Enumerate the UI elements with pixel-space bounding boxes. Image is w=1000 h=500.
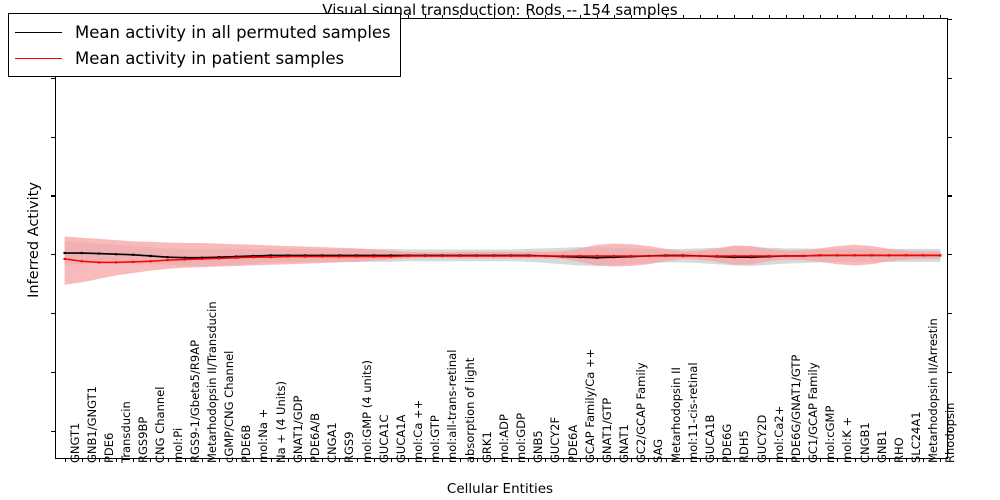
x-tick [271,458,272,462]
x-tick [889,458,890,462]
data-point-marker [167,259,169,261]
data-point-marker [201,258,203,260]
x-tick-label: PDE6B [241,425,253,463]
x-tick [185,458,186,462]
legend-line-patient [15,58,62,59]
x-tick-label: GUCA1B [705,415,717,463]
x-tick-label: GNGT1 [69,423,81,463]
x-tick [940,15,941,19]
x-tick [923,458,924,462]
x-tick [906,458,907,462]
data-point-marker [149,260,151,262]
legend-label-permuted: Mean activity in all permuted samples [75,23,391,42]
x-tick-label: mol:11-cis-retinal [688,362,700,463]
x-tick-label: RGS9 [344,431,356,463]
y-tick [51,78,56,79]
x-tick [631,458,632,462]
data-point-marker [407,255,409,257]
x-tick-label: GNB1 [876,430,888,463]
x-tick-label: GRK1 [481,431,493,463]
x-tick [597,15,598,19]
data-point-marker [716,255,718,257]
x-tick [734,15,735,19]
data-point-marker [682,255,684,257]
x-tick-label: GUCA1A [396,415,408,463]
x-tick [425,15,426,19]
y-tick [51,137,56,138]
x-tick [889,15,890,19]
x-tick-label: CNG Channel [155,387,167,463]
x-tick-label: PDE6G/GNAT1/GTP [791,355,803,463]
data-point-marker [390,255,392,257]
figure-canvas: Visual signal transduction: Rods -- 154 … [0,0,1000,500]
x-tick [322,458,323,462]
x-tick [803,15,804,19]
data-point-marker [424,255,426,257]
x-tick [666,458,667,462]
x-tick-label: mol:GTP [430,415,442,463]
x-tick-label: GUCA1C [378,414,390,463]
x-tick [700,15,701,19]
x-tick [683,15,684,19]
y-tick [947,372,952,373]
x-tick [717,458,718,462]
x-tick [528,15,529,19]
x-tick-label: GC2/GCAP Family [636,362,648,463]
data-point-marker [665,255,667,257]
x-tick [511,458,512,462]
x-tick [494,15,495,19]
x-tick [236,458,237,462]
data-point-marker [493,255,495,257]
data-point-marker [939,254,941,256]
x-tick [648,15,649,19]
x-tick [872,458,873,462]
x-tick [803,458,804,462]
data-point-marker [63,252,65,254]
x-tick [717,15,718,19]
y-tick [947,78,952,79]
x-tick [923,15,924,19]
x-tick-label: PDE6 [104,433,116,463]
legend-label-patient: Mean activity in patient samples [75,49,344,68]
x-tick-label: Metarhodopsin II [670,367,682,463]
x-tick [219,458,220,462]
x-tick [305,458,306,462]
x-axis-label: Cellular Entities [0,481,1000,497]
x-tick [150,458,151,462]
data-point-marker [768,255,770,257]
data-point-marker [373,255,375,257]
x-tick [442,15,443,19]
x-tick [786,458,787,462]
data-point-marker [458,255,460,257]
data-point-marker [510,255,512,257]
data-point-marker [304,255,306,257]
x-tick [683,458,684,462]
x-tick [580,458,581,462]
data-point-marker [527,255,529,257]
data-point-marker [167,256,169,258]
x-tick-label: PDE6A [567,425,579,463]
x-tick [597,458,598,462]
data-point-marker [819,254,821,256]
data-point-marker [853,254,855,256]
x-tick-label: absorption of light [464,358,476,463]
x-tick [563,15,564,19]
x-tick [494,458,495,462]
x-tick-label: GNB1/GNGT1 [87,386,99,463]
data-point-marker [647,255,649,257]
x-tick [648,458,649,462]
data-point-marker [579,255,581,257]
x-tick [545,15,546,19]
x-tick-label: GNAT1 [619,424,631,463]
y-tick [947,254,952,255]
data-point-marker [802,255,804,257]
data-point-marker [132,261,134,263]
x-tick-label: GNAT1/GDP [293,396,305,463]
x-tick [666,15,667,19]
data-point-marker [81,252,83,254]
y-tick [51,372,56,373]
x-tick-label: mol:Ca2+ [773,406,785,463]
x-tick [357,458,358,462]
legend-item: Mean activity in all permuted samples [15,19,391,45]
x-tick [580,15,581,19]
x-tick-label: SLC24A1 [911,411,923,463]
data-point-marker [888,254,890,256]
x-tick-label: PDE6G [722,424,734,463]
x-tick [202,458,203,462]
x-tick [65,458,66,462]
x-tick [855,458,856,462]
data-point-marker [699,255,701,257]
x-tick [425,458,426,462]
data-point-marker [98,261,100,263]
x-tick [769,15,770,19]
x-tick-label: RDH5 [739,430,751,463]
x-tick [99,458,100,462]
x-tick-label: GUCY2F [550,417,562,463]
data-point-marker [235,257,237,259]
x-tick [374,458,375,462]
y-axis-label: Inferred Activity [26,40,42,440]
data-point-marker [613,255,615,257]
x-tick [700,458,701,462]
y-tick [947,313,952,314]
legend-box: Mean activity in all permuted samples Me… [8,13,401,77]
x-tick [511,15,512,19]
x-tick [133,458,134,462]
x-tick-label: Metarhodopsin II/Arrestin [928,318,940,463]
x-tick [528,458,529,462]
data-point-marker [785,255,787,257]
legend-line-permuted [15,32,62,33]
x-tick-label: cGMP/CNG Channel [224,351,236,463]
data-point-marker [733,255,735,257]
data-point-marker [355,255,357,257]
x-tick-label: PDE6A/B [310,413,322,463]
y-tick [947,19,952,20]
data-point-marker [596,255,598,257]
data-point-marker [441,255,443,257]
x-tick-label: SAG [653,439,665,463]
x-tick [442,458,443,462]
x-tick [563,458,564,462]
data-point-marker [115,261,117,263]
x-tick [477,458,478,462]
x-tick [837,458,838,462]
data-point-marker [630,255,632,257]
y-tick [51,313,56,314]
x-tick-label: Rhodopsin [945,403,957,463]
x-tick [116,458,117,462]
x-tick [786,15,787,19]
y-tick [51,195,56,196]
data-point-marker [750,255,752,257]
data-point-marker [871,254,873,256]
x-tick [752,15,753,19]
x-tick-label: mol:K + [842,417,854,463]
data-point-marker [81,260,83,262]
x-tick-label: mol:Ca ++ [413,400,425,463]
x-tick-label: Metarhodopsin II/Transducin [207,301,219,463]
x-tick-label: GNB5 [533,430,545,463]
x-tick-label: mol:GDP [516,413,528,463]
x-tick [906,15,907,19]
x-tick-label: RHO [894,437,906,463]
x-tick-label: RGS9BP [138,417,150,463]
x-tick [940,458,941,462]
x-tick-label: CNGA1 [327,422,339,463]
data-point-marker [562,255,564,257]
x-tick-label: mol:GMP (4 units) [361,360,373,463]
x-tick [614,458,615,462]
data-point-marker [98,253,100,255]
data-point-marker [922,254,924,256]
x-tick [477,15,478,19]
x-tick [408,15,409,19]
x-tick [872,15,873,19]
y-tick [947,195,952,196]
data-point-marker [132,254,134,256]
data-point-marker [544,255,546,257]
x-tick-label: GC1/GCAP Family [808,362,820,463]
data-point-marker [905,254,907,256]
x-tick-label: Na + (4 Units) [275,381,287,463]
x-tick [408,458,409,462]
x-tick [339,458,340,462]
x-tick [545,458,546,462]
x-tick-label: mol:Pi [172,428,184,463]
y-tick [51,431,56,432]
x-tick-label: Transducin [121,401,133,463]
data-point-marker [321,255,323,257]
x-tick [460,458,461,462]
y-tick [947,137,952,138]
data-point-marker [252,256,254,258]
x-tick [820,458,821,462]
x-tick [734,458,735,462]
x-tick [631,15,632,19]
x-tick [391,458,392,462]
data-point-marker [63,258,65,260]
x-tick-label: GCAP Family/Ca ++ [585,349,597,463]
data-point-marker [836,254,838,256]
x-tick-label: mol:Na + [258,409,270,463]
x-tick-label: mol:ADP [499,414,511,463]
data-point-marker [476,255,478,257]
x-tick [288,458,289,462]
y-tick [51,254,56,255]
data-point-marker [270,256,272,258]
x-tick [82,458,83,462]
data-point-marker [338,255,340,257]
x-tick-label: GNAT1/GTP [602,398,614,463]
x-tick [168,458,169,462]
x-tick [253,458,254,462]
x-tick [614,15,615,19]
x-tick [752,458,753,462]
data-point-marker [287,255,289,257]
data-point-marker [115,253,117,255]
x-tick-label: mol:cGMP [825,406,837,463]
x-tick-label: RGS9-1/Gbeta5/R9AP [190,340,202,463]
x-tick [460,15,461,19]
x-tick [820,15,821,19]
x-tick-label: mol:all-trans-retinal [447,350,459,463]
x-tick [837,15,838,19]
x-tick-label: CNGB1 [859,422,871,463]
data-point-marker [218,257,220,259]
x-tick [769,458,770,462]
data-point-marker [149,255,151,257]
legend-item: Mean activity in patient samples [15,45,391,71]
x-tick [855,15,856,19]
data-point-marker [184,258,186,260]
x-tick-label: GUCY2D [756,415,768,463]
